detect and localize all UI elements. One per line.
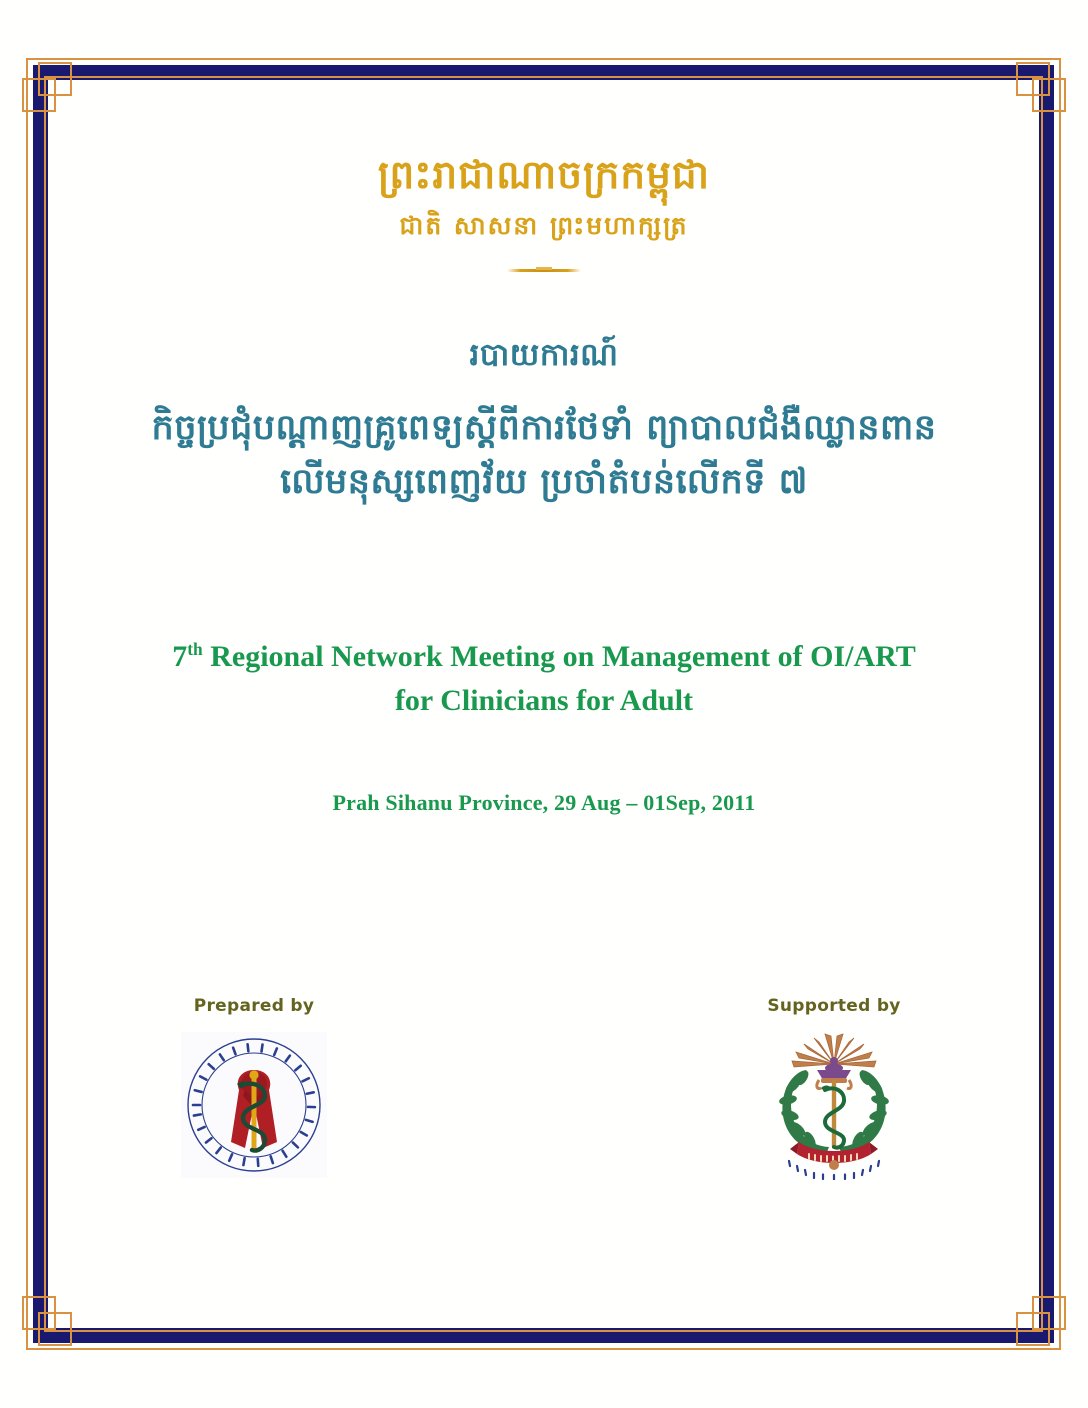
corner-knot-bottom-left-a <box>22 1296 56 1330</box>
supported-by-block: Supported by <box>684 996 984 1180</box>
supported-by-label: Supported by <box>684 996 984 1016</box>
english-title-line-1: 7th Regional Network Meeting on Manageme… <box>172 640 916 673</box>
english-main-title: 7th Regional Network Meeting on Manageme… <box>60 635 1028 722</box>
corner-knot-top-right-a <box>1032 78 1066 112</box>
prepared-by-label: Prepared by <box>104 996 404 1016</box>
khmer-main-title: កិច្ចប្រជុំបណ្តាញគ្រូពេទ្យស្តីពីការថែទាំ… <box>60 401 1028 510</box>
khmer-title-line-2: លើមនុស្សពេញវ័យ ប្រចាំតំបន់លើកទី ៧ <box>60 455 1028 509</box>
nchads-logo <box>179 1030 329 1180</box>
national-motto-line: ជាតិ សាសនា ព្រះមហាក្សត្រ <box>60 211 1028 247</box>
ministry-of-health-logo <box>759 1030 909 1180</box>
english-title-rest: Regional Network Meeting on Management o… <box>203 640 916 673</box>
page-canvas: ព្រះរាជាណាចក្រកម្ពុជា ជាតិ សាសនា ព្រះមហា… <box>0 0 1088 1408</box>
khmer-document-type: របាយការណ៍ <box>60 336 1028 381</box>
corner-knot-bottom-right-a <box>1032 1296 1066 1330</box>
cover-content: ព្រះរាជាណាចក្រកម្ពុជា ជាតិ សាសនា ព្រះមហា… <box>60 96 1028 1312</box>
event-location-date: Prah Sihanu Province, 29 Aug – 01Sep, 20… <box>60 790 1028 816</box>
corner-knot-top-left-a <box>22 78 56 112</box>
corner-knot-top-left-b <box>38 62 72 96</box>
corner-knot-top-right-b <box>1016 62 1050 96</box>
prepared-by-block: Prepared by <box>104 996 404 1180</box>
logo-row: Prepared by <box>60 996 1028 1296</box>
english-title-line-2: for Clinicians for Adult <box>60 679 1028 723</box>
kingdom-of-cambodia-line: ព្រះរាជាណាចក្រកម្ពុជា <box>60 154 1028 199</box>
ordinal-number: 7 <box>172 640 187 673</box>
gold-divider-rule <box>507 269 581 272</box>
corner-knot-bottom-left-b <box>38 1312 72 1346</box>
ordinal-suffix: th <box>187 639 202 659</box>
corner-knot-bottom-right-b <box>1016 1312 1050 1346</box>
khmer-title-line-1: កិច្ចប្រជុំបណ្តាញគ្រូពេទ្យស្តីពីការថែទាំ… <box>60 401 1028 455</box>
